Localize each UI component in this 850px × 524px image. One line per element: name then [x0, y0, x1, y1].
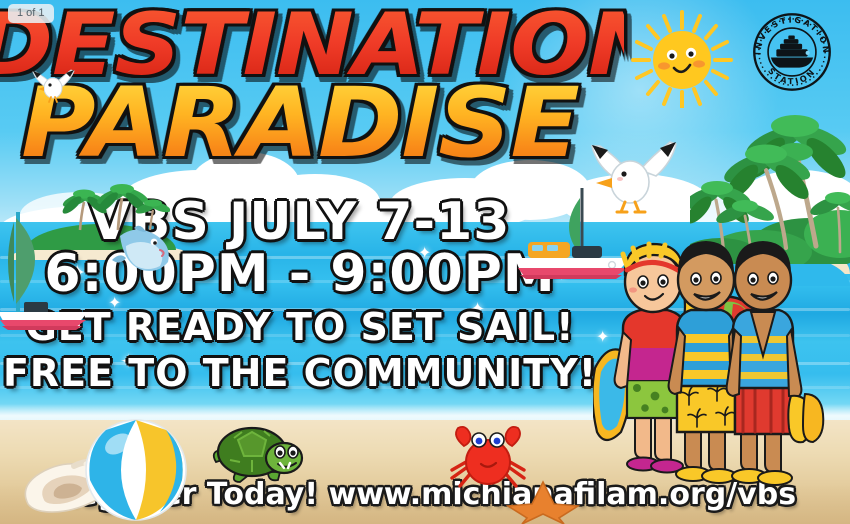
- cruise-ship-icon: [771, 35, 813, 67]
- character-boy-surfboard: [727, 241, 824, 485]
- flippers-icon: [788, 394, 823, 442]
- starfish-icon: [506, 480, 580, 524]
- investigation-station-logo: INVESTIGATION STATION: [746, 6, 838, 98]
- seagull-large-icon: [578, 132, 688, 216]
- beach-ball-icon: [84, 418, 188, 522]
- seagull-icon: [30, 62, 76, 104]
- vbs-flyer: ✦ ✦ ✦ ✦ ✦ ✦ ✦ ✦ ✦ ✦ ✦: [0, 0, 850, 524]
- sea-turtle-icon: [210, 418, 306, 484]
- page-counter-badge: 1 of 1: [8, 4, 54, 23]
- kids-characters: [593, 236, 828, 486]
- sailboat-icon: [0, 206, 112, 331]
- dolphin-icon: [110, 222, 178, 278]
